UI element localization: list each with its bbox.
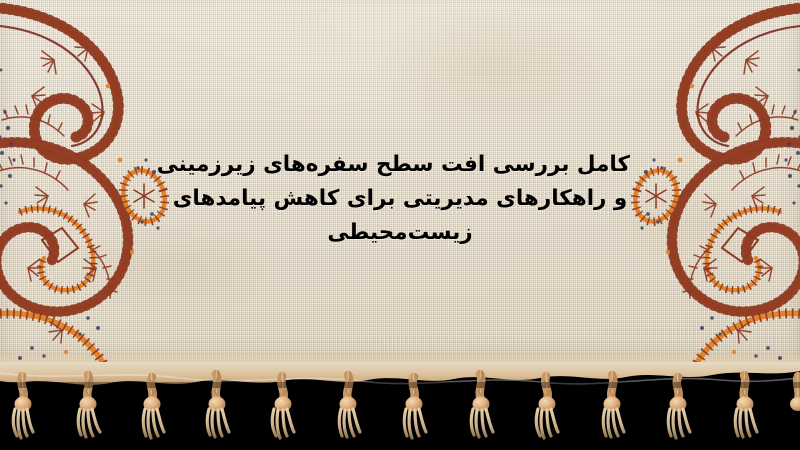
screenshot-canvas: کامل بررسی افت سطح سفره‌های زیرزمینی و ر… (0, 0, 800, 450)
tassel-fringe (0, 362, 800, 450)
title-line-1: کامل بررسی افت سطح سفره‌های زیرزمینی (170, 148, 630, 182)
title-text-block: کامل بررسی افت سطح سفره‌های زیرزمینی و ر… (170, 148, 630, 250)
title-line-3: زیست‌محیطی (170, 216, 630, 250)
title-line-2: و راهکارهای مدیریتی برای کاهش پیامدهای (170, 182, 630, 216)
